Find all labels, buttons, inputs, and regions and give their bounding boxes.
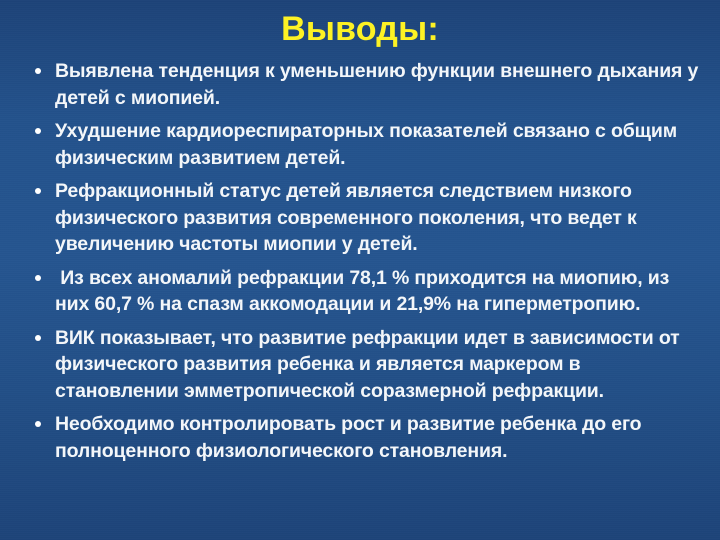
list-item: Ухудшение кардиореспираторных показателе…: [28, 118, 700, 171]
list-item-text: Необходимо контролировать рост и развити…: [55, 411, 700, 464]
list-item-text: Из всех аномалий рефракции 78,1 % приход…: [55, 265, 700, 318]
list-item: ВИК показывает, что развитие рефракции и…: [28, 325, 700, 405]
list-item-text: ВИК показывает, что развитие рефракции и…: [55, 325, 700, 405]
bullet-dot-icon: [35, 68, 41, 74]
bullet-dot-icon: [35, 188, 41, 194]
list-item: Рефракционный статус детей является след…: [28, 178, 700, 258]
list-item-text: Рефракционный статус детей является след…: [55, 178, 700, 258]
list-item: Из всех аномалий рефракции 78,1 % приход…: [28, 265, 700, 318]
page-title: Выводы:: [0, 9, 720, 49]
presentation-slide: Выводы: Выявлена тенденция к уменьшению …: [0, 0, 720, 540]
list-item-text: Выявлена тенденция к уменьшению функции …: [55, 58, 700, 111]
list-item: Необходимо контролировать рост и развити…: [28, 411, 700, 464]
bullet-dot-icon: [35, 335, 41, 341]
list-item-text: Ухудшение кардиореспираторных показателе…: [55, 118, 700, 171]
conclusions-bullet-list: Выявлена тенденция к уменьшению функции …: [28, 58, 700, 471]
bullet-dot-icon: [35, 421, 41, 427]
bullet-dot-icon: [35, 275, 41, 281]
bullet-dot-icon: [35, 128, 41, 134]
list-item: Выявлена тенденция к уменьшению функции …: [28, 58, 700, 111]
